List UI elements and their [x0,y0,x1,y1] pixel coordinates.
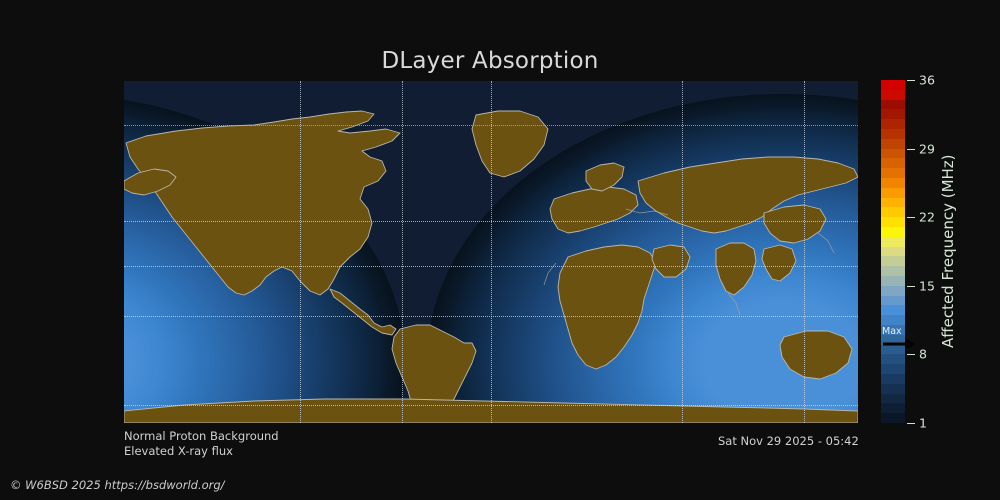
colorbar-band [881,296,905,306]
gridline-lon-160 [804,81,805,423]
colorbar-band [881,374,905,384]
colorbar-tick [907,149,915,150]
colorbar[interactable] [881,80,905,423]
gridline-lat-0 [124,266,858,267]
colorbar-band [881,354,905,364]
status-line-proton: Normal Proton Background [124,429,279,444]
colorbar-gradient [881,80,905,423]
colorbar-band [881,109,905,119]
colorbar-tick [907,354,915,355]
status-annotations: Normal Proton Background Elevated X-ray … [124,429,279,459]
colorbar-band [881,315,905,325]
colorbar-band [881,413,905,423]
colorbar-tick-label: 8 [919,347,927,362]
colorbar-band [881,158,905,168]
colorbar-band [881,100,905,110]
colorbar-band [881,178,905,188]
status-line-xray: Elevated X-ray flux [124,444,279,459]
colorbar-tick-label: 29 [919,141,935,156]
gridline-lat-minus-60 [124,405,858,406]
colorbar-band [881,286,905,296]
dlayer-absorption-chart: DLayer Absorption [0,0,1000,500]
colorbar-tick [907,286,915,287]
colorbar-band [881,237,905,247]
colorbar-band [881,345,905,355]
colorbar-band [881,149,905,159]
colorbar-band [881,227,905,237]
colorbar-band [881,403,905,413]
world-map-panel[interactable] [124,81,858,423]
colorbar-tick-label: 22 [919,210,935,225]
copyright-label: © W6BSD 2025 https://bsdworld.org/ [10,478,225,492]
colorbar-band [881,207,905,217]
colorbar-band [881,247,905,257]
colorbar-band [881,256,905,266]
colorbar-tick-label: 1 [919,416,927,431]
gridline-lon-90 [682,81,683,423]
colorbar-band [881,276,905,286]
gridline-lon-minus-90 [402,81,403,423]
timestamp-label: Sat Nov 29 2025 - 05:42 [718,434,859,448]
colorbar-tick-label: 15 [919,278,935,293]
gridline-lon-minus-135 [300,81,301,423]
colorbar-band [881,335,905,345]
colorbar-band [881,139,905,149]
colorbar-band [881,188,905,198]
colorbar-tick-label: 36 [919,73,935,88]
colorbar-band [881,394,905,404]
gridline-lat-23 [124,221,858,222]
colorbar-tick [907,80,915,81]
colorbar-band [881,364,905,374]
colorbar-band [881,129,905,139]
colorbar-band [881,198,905,208]
colorbar-band [881,168,905,178]
colorbar-band [881,384,905,394]
colorbar-band [881,119,905,129]
colorbar-axis-label: Affected Frequency (MHz) [936,80,960,423]
colorbar-tick [907,217,915,218]
page-title: DLayer Absorption [0,48,980,74]
colorbar-band [881,266,905,276]
colorbar-band [881,80,905,90]
gridline-lat-60 [124,125,858,126]
colorbar-band [881,90,905,100]
gridline-lon-0 [491,81,492,423]
colorbar-band [881,305,905,315]
gridline-lat-minus-23 [124,316,858,317]
colorbar-band [881,217,905,227]
colorbar-tick [907,423,915,424]
colorbar-band [881,325,905,335]
